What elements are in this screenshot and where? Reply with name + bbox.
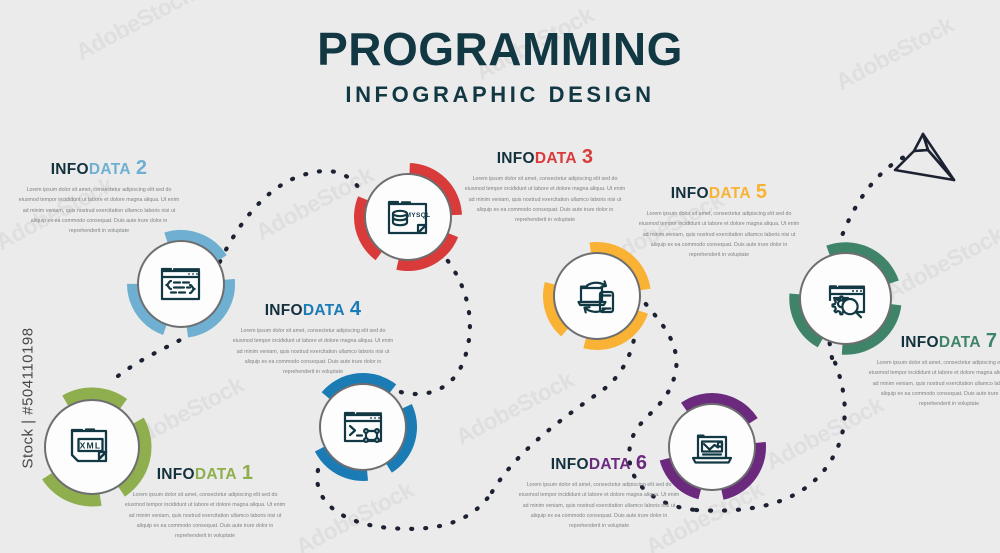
code-window-icon (156, 259, 206, 309)
infoblock-3-suffix: DATA (535, 150, 577, 167)
icon-disc-4 (319, 383, 407, 471)
infoblock-2-heading: INFODATA2 (16, 157, 182, 180)
infoblock-1-number: 1 (242, 462, 253, 484)
infoblock-1-suffix: DATA (195, 466, 237, 483)
seo-settings-search-icon (820, 273, 872, 325)
infoblock-6-heading: INFODATA6 (516, 452, 682, 475)
node-4[interactable] (308, 372, 418, 482)
infoblock-3-text: Lorem ipsum dolor sit amet, consectetur … (462, 174, 628, 226)
infoblock-4: INFODATA4 Lorem ipsum dolor sit amet, co… (230, 298, 396, 378)
infoblock-5-suffix: DATA (709, 185, 751, 202)
infoblock-4-prefix: INFO (265, 302, 303, 319)
terminal-console-icon (338, 402, 388, 452)
node-2[interactable] (126, 229, 236, 339)
infoblock-1: INFODATA1 Lorem ipsum dolor sit amet, co… (122, 462, 288, 542)
infoblock-7-number: 7 (986, 330, 997, 352)
svg-text:XML: XML (80, 441, 102, 451)
infoblock-2-text: Lorem ipsum dolor sit amet, consectetur … (16, 185, 182, 237)
infoblock-6-number: 6 (636, 452, 647, 474)
infoblock-4-suffix: DATA (303, 302, 345, 319)
svg-text:MYSQL: MYSQL (406, 212, 431, 219)
infoblock-7-heading: INFODATA7 (866, 330, 1000, 353)
infoblock-7: INFODATA7 Lorem ipsum dolor sit amet, co… (866, 330, 1000, 410)
infoblock-6-prefix: INFO (551, 456, 589, 473)
infoblock-4-text: Lorem ipsum dolor sit amet, consectetur … (230, 326, 396, 378)
node-3[interactable]: MYSQL (353, 162, 463, 272)
mysql-database-icon: MYSQL (383, 192, 433, 242)
infoblock-5-number: 5 (756, 181, 767, 203)
infoblock-2-number: 2 (136, 157, 147, 179)
infoblock-1-text: Lorem ipsum dolor sit amet, consectetur … (122, 490, 288, 542)
infoblock-5-prefix: INFO (671, 185, 709, 202)
laptop-analytics-icon (687, 422, 737, 472)
infoblock-6-text: Lorem ipsum dolor sit amet, consectetur … (516, 480, 682, 532)
infoblock-6-suffix: DATA (589, 456, 631, 473)
infoblock-7-prefix: INFO (901, 334, 939, 351)
infoblock-7-text: Lorem ipsum dolor sit amet, consectetur … (866, 358, 1000, 410)
infographic-canvas: AdobeStock AdobeStock AdobeStock AdobeSt… (0, 0, 1000, 553)
icon-disc-5 (553, 252, 641, 340)
infoblock-3-heading: INFODATA3 (462, 146, 628, 169)
device-sync-icon (572, 271, 622, 321)
icon-disc-2 (137, 240, 225, 328)
infoblock-3-prefix: INFO (497, 150, 535, 167)
paper-plane-decoration (890, 126, 970, 193)
icon-disc-3: MYSQL (364, 173, 452, 261)
infoblock-5-text: Lorem ipsum dolor sit amet, consectetur … (636, 209, 802, 261)
infoblock-2-suffix: DATA (89, 161, 131, 178)
infoblock-3: INFODATA3 Lorem ipsum dolor sit amet, co… (462, 146, 628, 226)
infoblock-4-heading: INFODATA4 (230, 298, 396, 321)
infoblock-5: INFODATA5 Lorem ipsum dolor sit amet, co… (636, 181, 802, 261)
xml-file-icon: XML (66, 421, 118, 473)
infoblock-2-prefix: INFO (51, 161, 89, 178)
infoblock-1-heading: INFODATA1 (122, 462, 288, 485)
infoblock-7-suffix: DATA (939, 334, 981, 351)
infoblock-2: INFODATA2 Lorem ipsum dolor sit amet, co… (16, 157, 182, 237)
infoblock-3-number: 3 (582, 146, 593, 168)
infoblock-4-number: 4 (350, 298, 361, 320)
infoblock-6: INFODATA6 Lorem ipsum dolor sit amet, co… (516, 452, 682, 532)
infoblock-5-heading: INFODATA5 (636, 181, 802, 204)
infoblock-1-prefix: INFO (157, 466, 195, 483)
paper-plane-icon (890, 126, 970, 188)
